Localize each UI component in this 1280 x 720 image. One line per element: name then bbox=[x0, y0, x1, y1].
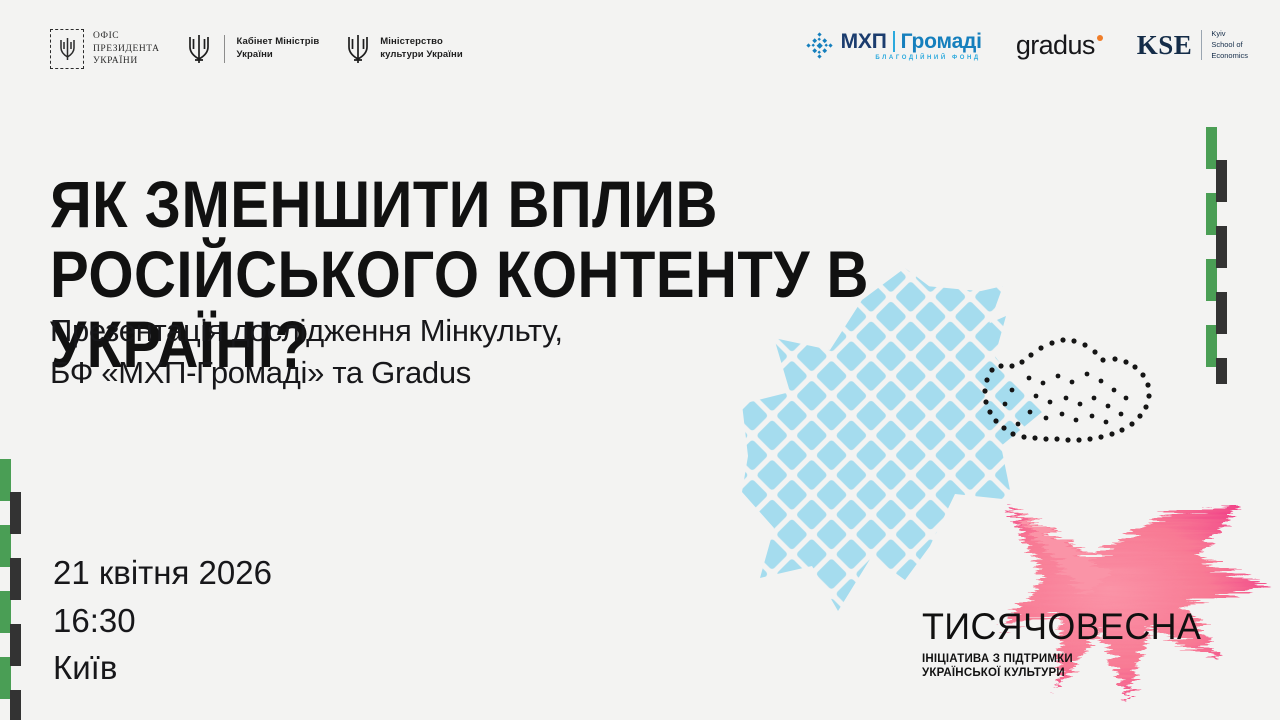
logo-ministry-of-culture: Міністерство культури України bbox=[345, 30, 463, 68]
kse-subtitle: Kyiv School of Economics bbox=[1211, 29, 1248, 62]
trident-framed-icon bbox=[50, 29, 84, 69]
event-time: 16:30 bbox=[53, 597, 272, 645]
event-details: 21 квітня 2026 16:30 Київ bbox=[53, 549, 272, 692]
event-city: Київ bbox=[53, 644, 272, 692]
brand-tagline: ІНІЦІАТИВА З ПІДТРИМКИ УКРАЇНСЬКОЇ КУЛЬТ… bbox=[922, 652, 1242, 681]
logo-office-of-the-president-label: ОФІС ПРЕЗИДЕНТА УКРАЇНИ bbox=[93, 30, 160, 68]
logo-office-of-the-president: ОФІС ПРЕЗИДЕНТА УКРАЇНИ bbox=[50, 29, 160, 69]
logo-divider bbox=[224, 35, 225, 63]
mhp-wordmark: МХП bbox=[841, 30, 887, 54]
kse-wordmark: KSE bbox=[1137, 30, 1193, 61]
checker-bar-green-group bbox=[1206, 127, 1217, 367]
partner-logo-strip: МХП Громаді БЛАГОДІЙНИЙ ФОНД gradus KSE … bbox=[806, 29, 1248, 62]
brand-name: ТИСЯЧОВЕСНА bbox=[922, 608, 1232, 645]
checker-bar-dark-group bbox=[1216, 160, 1227, 384]
page-subtitle: Презентація дослідження Мінкульту, БФ «М… bbox=[50, 310, 563, 393]
logo-kse: KSE Kyiv School of Economics bbox=[1137, 29, 1248, 62]
kse-divider bbox=[1201, 30, 1202, 60]
logo-cabinet-of-ministers: Кабінет Міністрів України bbox=[186, 30, 320, 68]
left-checker-bar-green-group bbox=[0, 459, 11, 699]
left-checker-bar-dark-group bbox=[10, 492, 21, 720]
government-logo-strip: ОФІС ПРЕЗИДЕНТА УКРАЇНИ Кабінет Міністрі… bbox=[50, 29, 463, 69]
logo-ministry-of-culture-label: Міністерство культури України bbox=[380, 36, 463, 62]
event-date: 21 квітня 2026 bbox=[53, 549, 272, 597]
logo-gradus: gradus bbox=[1016, 30, 1103, 61]
trident-icon bbox=[186, 30, 212, 68]
gradus-wordmark: gradus bbox=[1016, 30, 1095, 61]
logo-mhp-gromadi: МХП Громаді БЛАГОДІЙНИЙ ФОНД bbox=[806, 30, 982, 61]
mhp-divider bbox=[893, 31, 895, 52]
tysiachovesna-brand-lockup: ТИСЯЧОВЕСНА ІНІЦІАТИВА З ПІДТРИМКИ УКРАЇ… bbox=[922, 608, 1242, 681]
orange-dot-icon bbox=[1097, 35, 1103, 41]
gromadi-wordmark: Громаді bbox=[901, 30, 982, 54]
trident-icon bbox=[345, 30, 371, 68]
poster-canvas: ОФІС ПРЕЗИДЕНТА УКРАЇНИ Кабінет Міністрі… bbox=[0, 0, 1280, 720]
logo-cabinet-of-ministers-label: Кабінет Міністрів України bbox=[237, 36, 320, 62]
mhp-foundation-subtitle: БЛАГОДІЙНИЙ ФОНД bbox=[875, 55, 981, 61]
mhp-ornament-icon bbox=[806, 32, 833, 59]
